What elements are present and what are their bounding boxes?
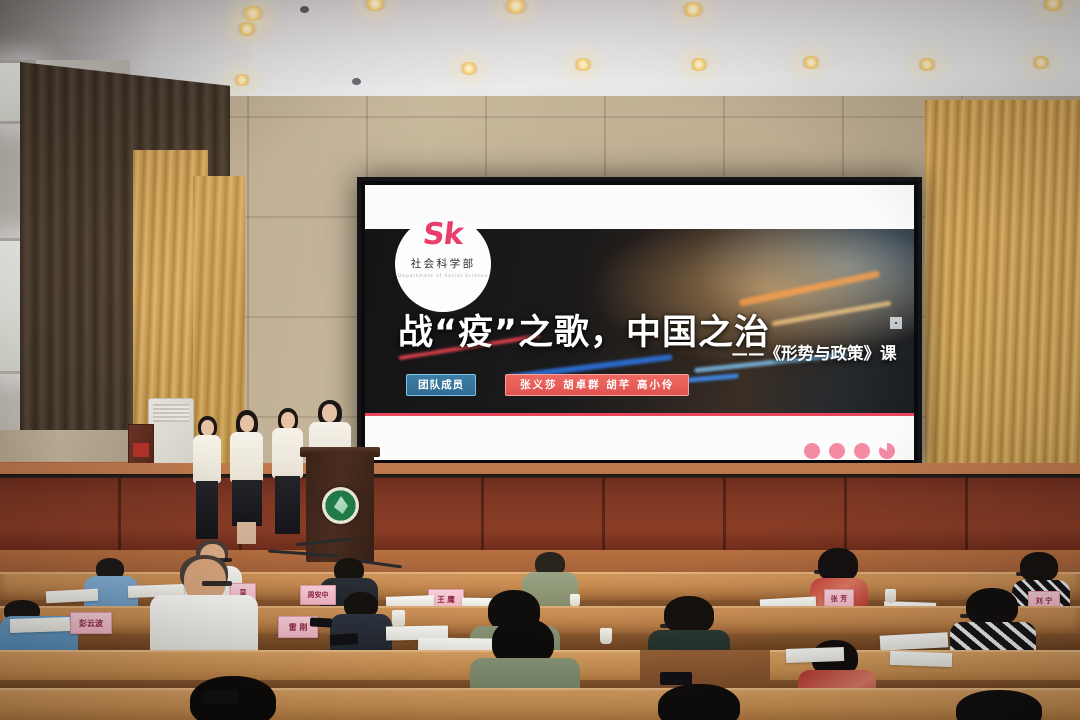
phone[interactable] [330, 633, 359, 646]
paper-cup [885, 589, 896, 603]
decorative-squares-icon [890, 317, 902, 329]
team-label-badge: 团队成员 [406, 374, 476, 396]
ceiling-light [572, 58, 594, 71]
department-logo: Sk 社会科学部 Department of Social Science [395, 216, 491, 312]
attendee-hair [664, 596, 714, 634]
dot-icon [829, 443, 845, 459]
stage-front-seams [0, 478, 1080, 550]
nameplate-text: 彭云波 [79, 618, 103, 629]
stage-front-panel [0, 478, 1080, 550]
presenter-head [322, 404, 337, 422]
nameplate: 彭云波 [70, 612, 112, 634]
decorative-dots [804, 443, 895, 459]
ceiling-light [232, 74, 252, 86]
lecture-hall-photo: Sk 社会科学部 Department of Social Science 战“… [0, 0, 1080, 720]
presenter-bottom [232, 480, 262, 526]
attendee-hair [1020, 552, 1058, 582]
glasses-icon [960, 614, 978, 618]
ceiling-light [240, 6, 266, 21]
dot-icon [854, 443, 870, 459]
presenter-3 [270, 408, 306, 544]
logo-name-cn: 社会科学部 [411, 256, 476, 271]
presenter-2 [228, 410, 266, 544]
nameplate-text: 雷 刚 [289, 622, 308, 633]
glasses-icon [660, 624, 676, 628]
presenter-head [281, 412, 295, 429]
led-screen[interactable]: Sk 社会科学部 Department of Social Science 战“… [357, 177, 922, 468]
smoke-detector [300, 6, 309, 13]
presenter-1 [190, 416, 224, 542]
dot-icon-partial [879, 443, 895, 459]
attendee-hair [966, 588, 1018, 626]
light-streak [739, 270, 880, 307]
slide-title: 战“疫”之歌，中国之治 [398, 304, 770, 355]
glasses-icon [814, 570, 832, 574]
paper-cup [600, 628, 612, 644]
ceiling-light [800, 56, 822, 69]
slide-hero-image: Sk 社会科学部 Department of Social Science 战“… [365, 229, 914, 416]
presenter-top [230, 432, 263, 482]
nameplate-text: 王 鹰 [437, 594, 455, 605]
ceiling-light [236, 22, 258, 36]
attendee-hair [956, 690, 1042, 720]
glasses-icon [202, 581, 232, 586]
presentation-slide: Sk 社会科学部 Department of Social Science 战“… [365, 185, 914, 460]
presenter-top [193, 435, 221, 483]
phone[interactable] [660, 672, 692, 685]
ceiling-light [688, 58, 710, 71]
slide-subtitle: ——《形势与政策》课 [731, 340, 896, 364]
university-crest-icon [322, 487, 359, 524]
presenter-bottom [196, 481, 218, 539]
presenter-bottom [275, 476, 300, 534]
slide-bottom-band [365, 413, 914, 460]
attendee [950, 588, 1036, 658]
document [10, 617, 70, 633]
dot-icon [804, 443, 820, 459]
attendee-hair [818, 548, 858, 582]
ceiling-light [458, 62, 480, 75]
presenter-top [272, 428, 303, 478]
attendee-hair [658, 684, 740, 720]
attendee-foreground [640, 684, 760, 720]
logo-name-en: Department of Social Science [398, 274, 488, 279]
document [786, 647, 844, 663]
phone[interactable] [310, 617, 332, 627]
ceiling-light [916, 58, 938, 71]
presenter-head [240, 415, 254, 432]
glasses-icon [1016, 572, 1032, 576]
document [890, 651, 952, 667]
nameplate-text: 周安中 [308, 590, 329, 600]
ceiling-light [680, 2, 706, 17]
logo-mark: Sk [422, 220, 465, 250]
attendee [150, 555, 260, 660]
ceiling-light [1030, 56, 1052, 69]
nameplate-text: 张 芳 [831, 594, 847, 604]
nameplate-text: 刘 宁 [1036, 596, 1052, 606]
team-members-badge: 张义莎 胡卓群 胡芊 高小伶 [505, 374, 689, 396]
paper-cup [392, 610, 405, 627]
light-streak [772, 301, 892, 327]
attendee [470, 618, 580, 698]
attendee-foreground [940, 690, 1060, 720]
smoke-detector [352, 78, 361, 85]
presenter-head [201, 420, 214, 436]
phone[interactable] [204, 690, 238, 704]
